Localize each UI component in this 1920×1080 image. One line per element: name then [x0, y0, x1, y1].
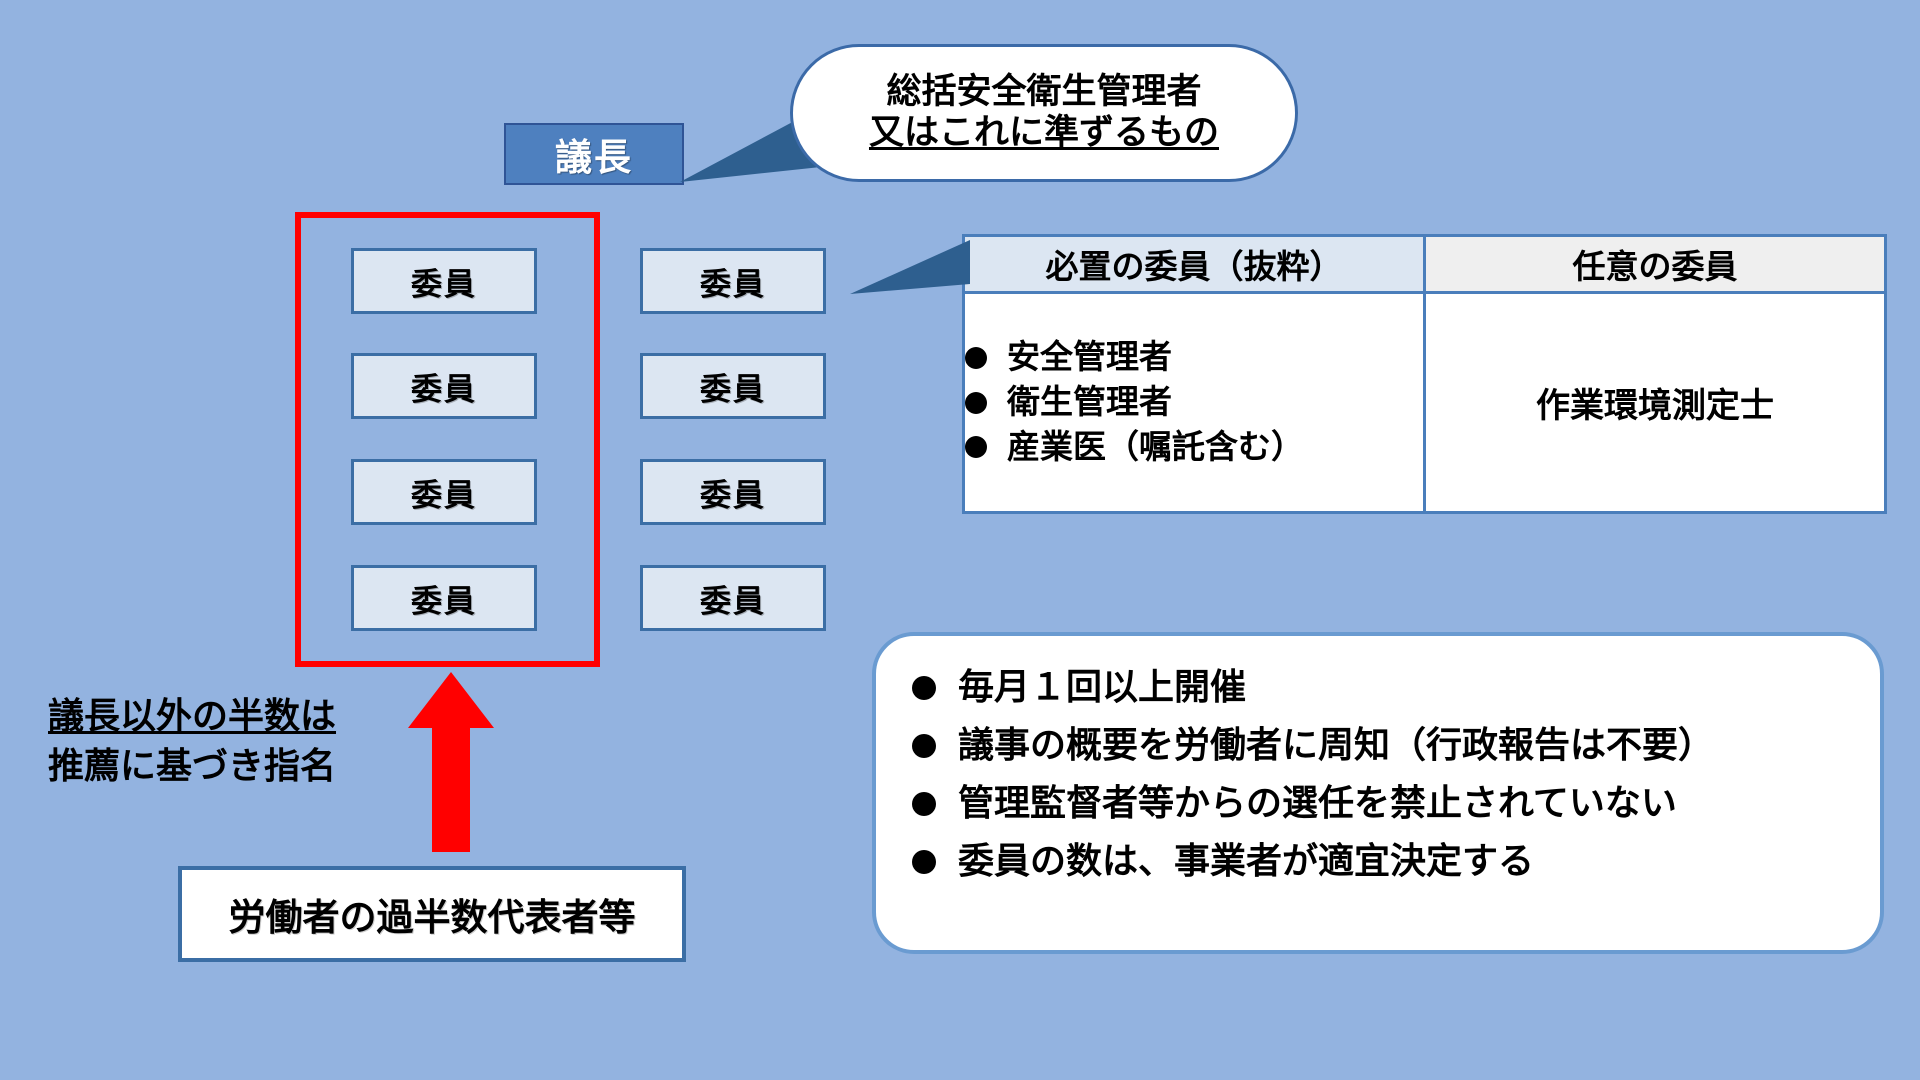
- bullet-dot-icon: [912, 792, 936, 816]
- note-1: 毎月１回以上開催: [958, 670, 1246, 706]
- worker-representative-label: 労働者の過半数代表者等: [229, 887, 636, 941]
- bullet-dot-icon: [912, 676, 936, 700]
- table-cell-optional: 作業環境測定士: [1425, 293, 1886, 513]
- bullet-dot-icon: [965, 347, 987, 369]
- member-box-right-2: 委員: [640, 353, 826, 419]
- list-item: 安全管理者: [965, 335, 1423, 380]
- member-label: 委員: [700, 364, 766, 409]
- list-item: 毎月１回以上開催: [912, 670, 1880, 706]
- table-cell-required: 安全管理者 衛生管理者 産業医（嘱託含む）: [964, 293, 1425, 513]
- list-item: 議事の概要を労働者に周知（行政報告は不要）: [912, 728, 1880, 764]
- committee-members-table: 必置の委員（抜粋） 任意の委員 安全管理者 衛生管理者 産業医（嘱託含む） 作業…: [962, 234, 1887, 514]
- chair-box: 議長: [504, 123, 684, 185]
- chair-label: 議長: [555, 127, 633, 181]
- worker-representative-box: 労働者の過半数代表者等: [178, 866, 686, 962]
- up-arrow-icon: [408, 672, 494, 852]
- table-header-required: 必置の委員（抜粋）: [964, 236, 1425, 293]
- list-item: 衛生管理者: [965, 380, 1423, 425]
- callout-bubble: 総括安全衛生管理者 又はこれに準ずるもの: [790, 44, 1298, 182]
- half-members-highlight-rect: [295, 212, 600, 667]
- bullet-dot-icon: [965, 436, 987, 458]
- half-members-note: 議長以外の半数は 推薦に基づき指名: [48, 692, 438, 791]
- list-item: 委員の数は、事業者が適宜決定する: [912, 844, 1880, 880]
- callout-line-1: 総括安全衛生管理者: [886, 72, 1201, 113]
- callout-line-2: 又はこれに準ずるもの: [869, 113, 1219, 154]
- member-label: 委員: [700, 259, 766, 304]
- member-box-right-3: 委員: [640, 459, 826, 525]
- chair-callout: 総括安全衛生管理者 又はこれに準ずるもの: [680, 44, 1298, 182]
- table-header-row: 必置の委員（抜粋） 任意の委員: [964, 236, 1886, 293]
- note-2: 議事の概要を労働者に周知（行政報告は不要）: [958, 728, 1714, 764]
- member-label: 委員: [700, 470, 766, 515]
- member-box-right-1: 委員: [640, 248, 826, 314]
- table-header-optional: 任意の委員: [1425, 236, 1886, 293]
- table-pointer-icon: [850, 240, 970, 300]
- list-item: 管理監督者等からの選任を禁止されていない: [912, 786, 1880, 822]
- slide-canvas: 議長 総括安全衛生管理者 又はこれに準ずるもの 委員 委員 委員 委員 委員 委…: [0, 0, 1920, 1080]
- table-body-row: 安全管理者 衛生管理者 産業医（嘱託含む） 作業環境測定士: [964, 293, 1886, 513]
- bullet-dot-icon: [912, 734, 936, 758]
- required-member-3: 産業医（嘱託含む）: [1007, 425, 1304, 470]
- list-item: 産業医（嘱託含む）: [965, 425, 1423, 470]
- note-3: 管理監督者等からの選任を禁止されていない: [958, 786, 1677, 822]
- required-member-1: 安全管理者: [1007, 335, 1172, 380]
- half-members-note-line-2: 推薦に基づき指名: [48, 742, 438, 792]
- bullet-dot-icon: [965, 392, 987, 414]
- note-4: 委員の数は、事業者が適宜決定する: [958, 844, 1534, 880]
- required-member-2: 衛生管理者: [1007, 380, 1172, 425]
- bullet-dot-icon: [912, 850, 936, 874]
- member-label: 委員: [700, 576, 766, 621]
- half-members-note-line-1: 議長以外の半数は: [48, 692, 438, 742]
- member-box-right-4: 委員: [640, 565, 826, 631]
- notes-box: 毎月１回以上開催 議事の概要を労働者に周知（行政報告は不要） 管理監督者等からの…: [872, 632, 1884, 954]
